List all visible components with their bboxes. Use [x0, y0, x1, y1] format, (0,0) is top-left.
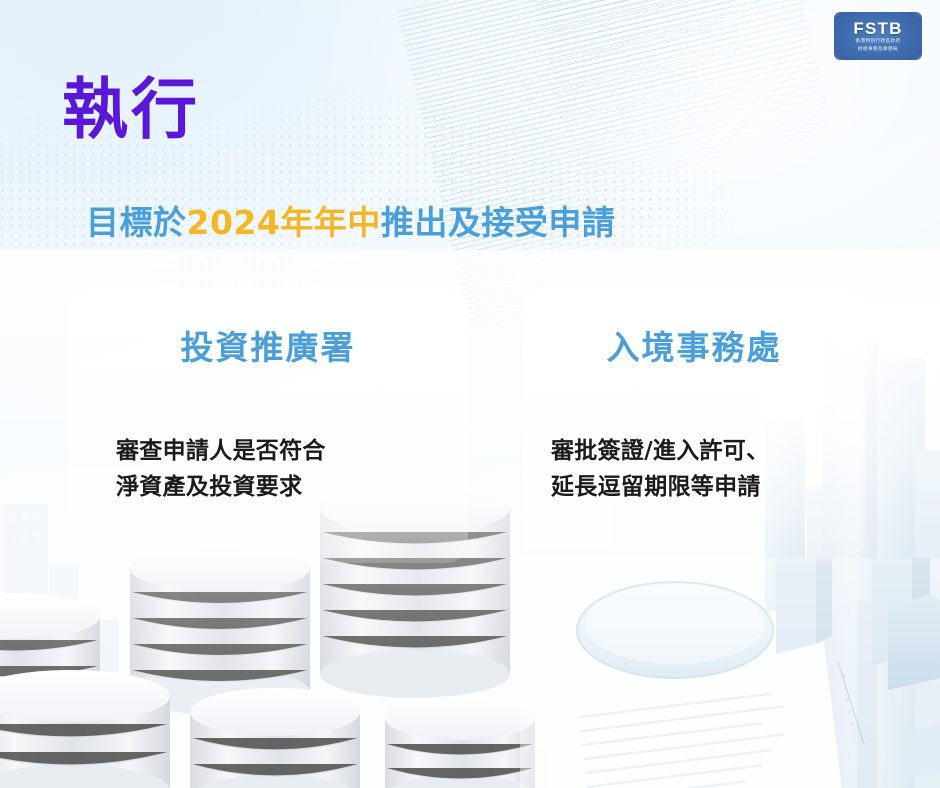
presentation-slide: FSTB 香港特別行政區政府 財經事務及庫務局 執行 目標於2024年年中推出及… — [0, 0, 940, 788]
panel-invest-hk-body: 審查申請人是否符合 淨資產及投資要求 — [116, 433, 438, 505]
subtitle-highlight: 2024年年中 — [187, 203, 381, 242]
panel-group: 投資推廣署 審查申請人是否符合 淨資產及投資要求 入境事務處 審批簽證/進入許可… — [0, 288, 940, 568]
fstb-logo-acronym: FSTB — [853, 20, 902, 37]
line-art-skyscraper-icon — [397, 0, 793, 333]
fstb-logo-chinese-line2: 財經事務及庫務局 — [858, 47, 898, 53]
desk-magnifier-chart-image — [520, 558, 940, 788]
subtitle-lead: 目標於 — [86, 203, 187, 242]
subtitle: 目標於2024年年中推出及接受申請 — [86, 203, 615, 243]
panel-invest-hk-title: 投資推廣署 — [68, 328, 468, 368]
fstb-logo-chinese-line1: 香港特別行政區政府 — [856, 39, 901, 45]
subtitle-tail: 推出及接受申請 — [381, 203, 616, 242]
fstb-logo: FSTB 香港特別行政區政府 財經事務及庫務局 — [834, 12, 922, 60]
panel-immigration-department-title: 入境事務處 — [523, 328, 865, 368]
page-title: 執行 — [62, 74, 200, 146]
panel-immigration-department-body: 審批簽證/進入許可、 延長逗留期限等申請 — [551, 433, 849, 505]
panel-invest-hk: 投資推廣署 審查申請人是否符合 淨資產及投資要求 — [68, 288, 468, 563]
panel-immigration-department: 入境事務處 審批簽證/進入許可、 延長逗留期限等申請 — [523, 288, 865, 563]
